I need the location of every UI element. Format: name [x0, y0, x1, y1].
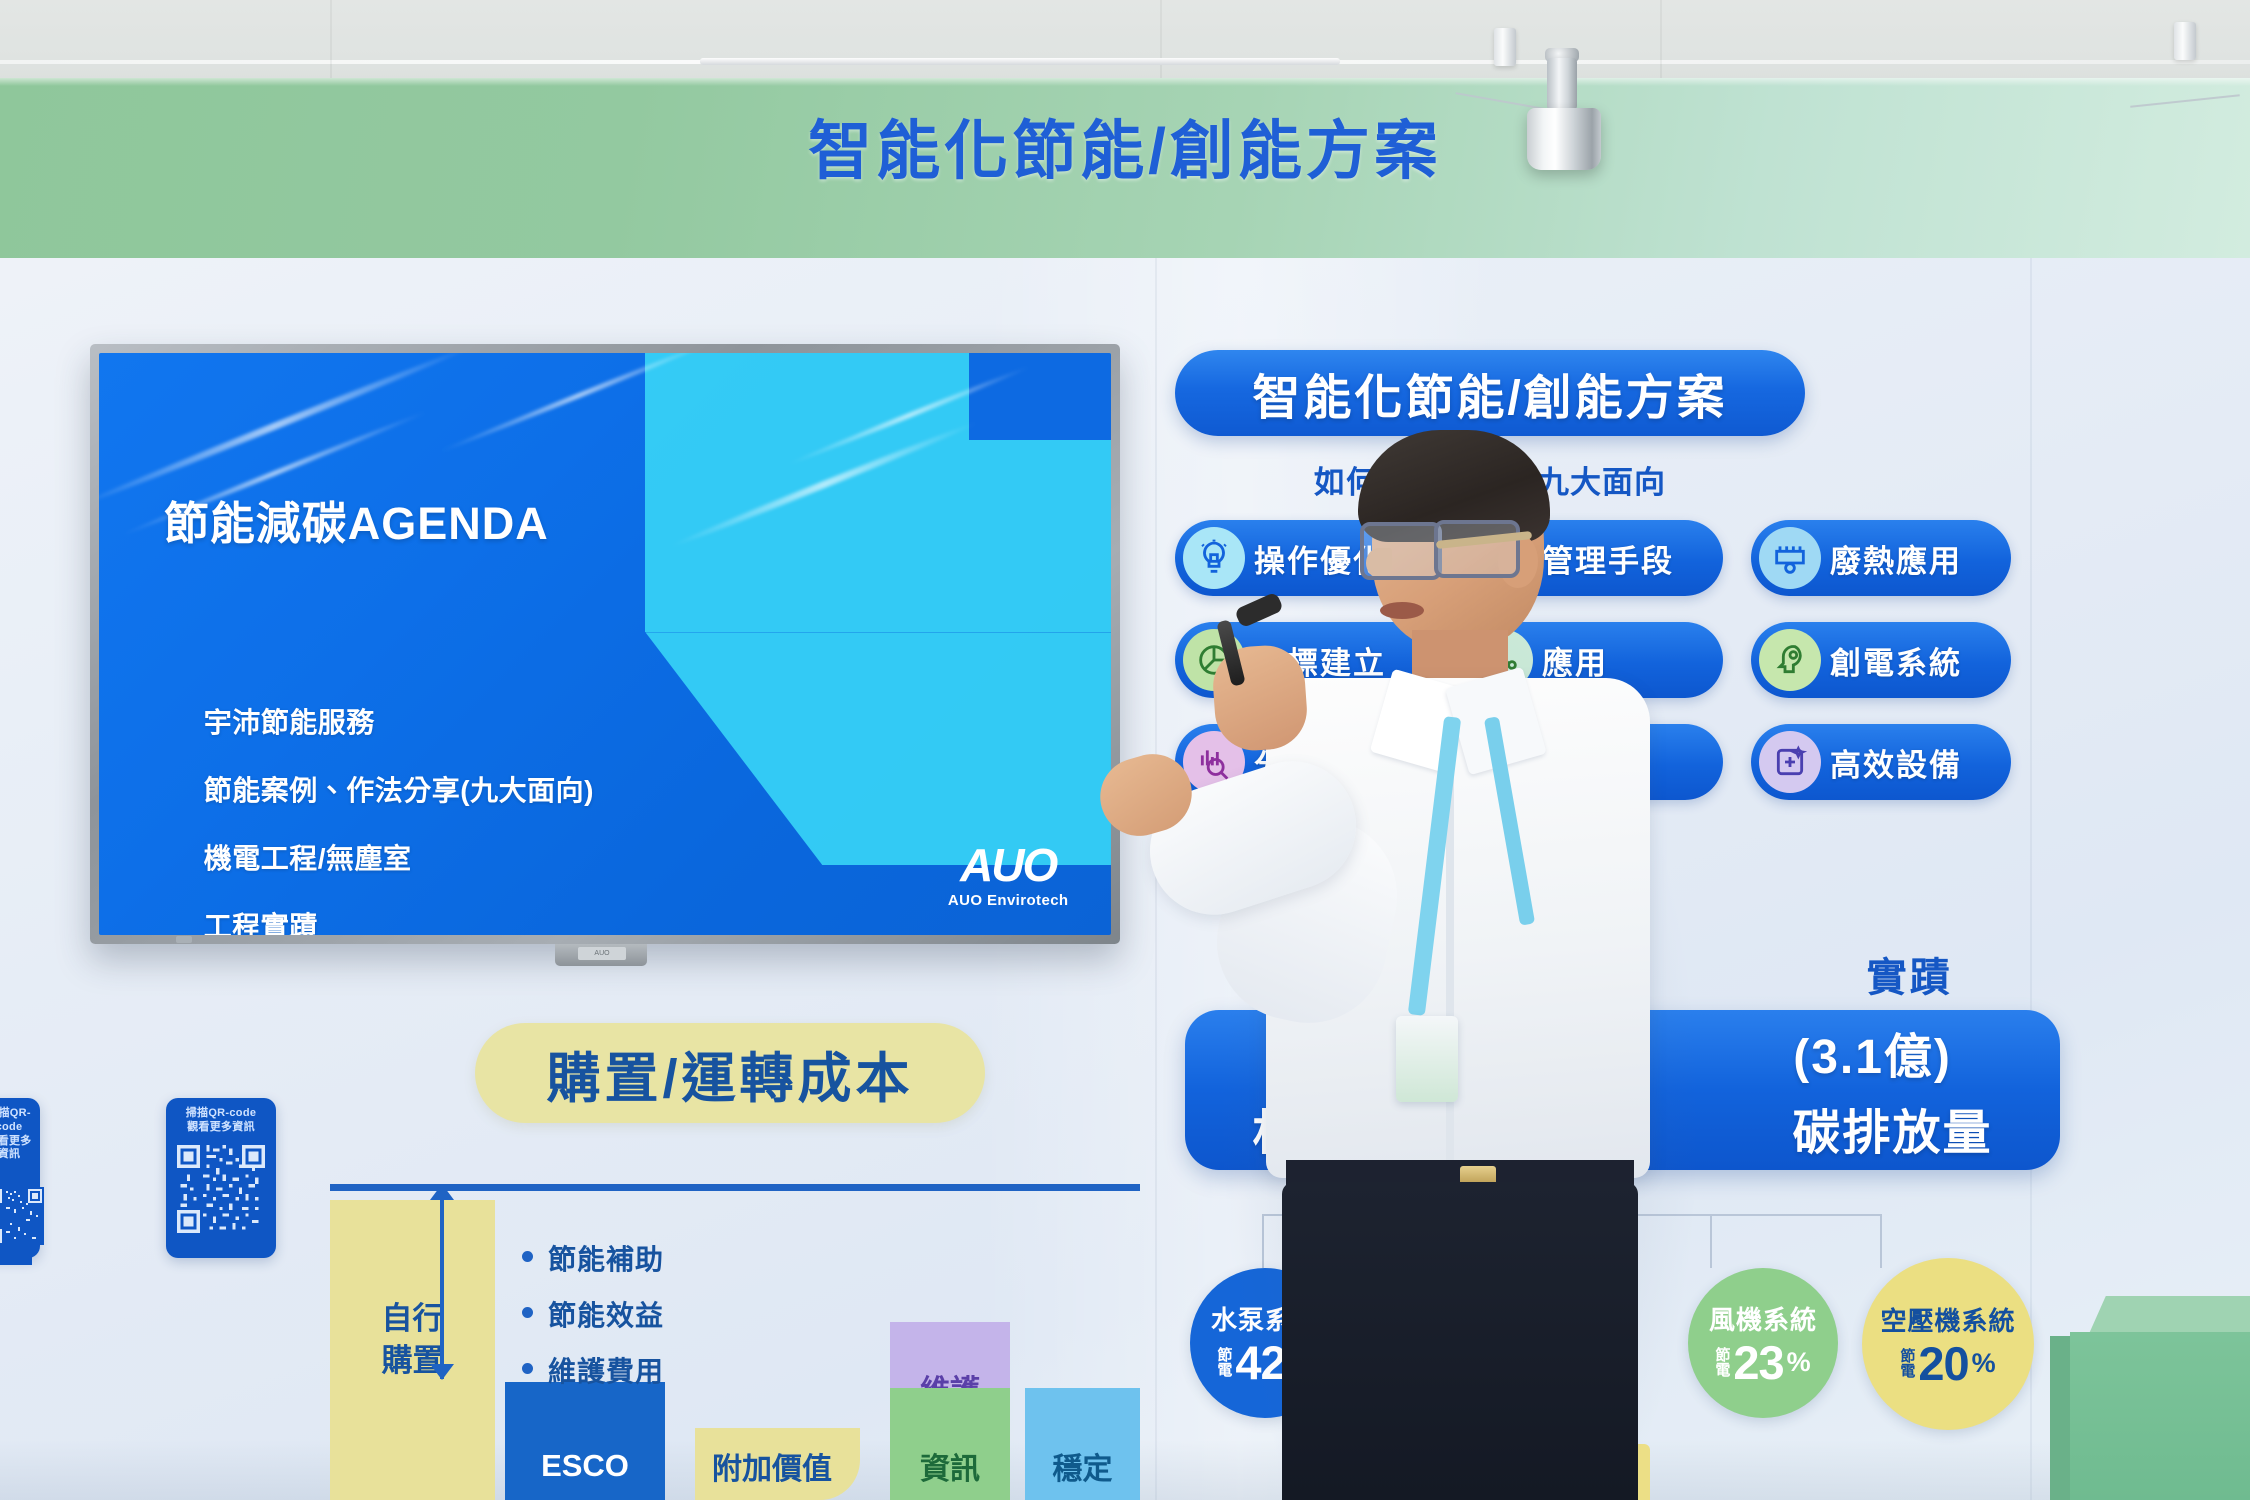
- track-clip: [1494, 28, 1516, 66]
- connector-drop: [1880, 1214, 1884, 1268]
- savings-circle-name: 空壓機系統: [1880, 1301, 2015, 1338]
- bar-label-esco: ESCO: [505, 1448, 665, 1484]
- qr-caption: 掃描QR-code 觀看更多資訊: [174, 1107, 268, 1135]
- savings-circle-value-group: 節電 20 %: [1900, 1340, 1995, 1387]
- aspect-pill-high-efficiency-equipment[interactable]: 高效設備: [1751, 724, 2011, 800]
- track-clip: [2174, 22, 2196, 60]
- aspect-pill-waste-heat[interactable]: 廢熱應用: [1751, 520, 2011, 596]
- aspect-pill-label: 廢熱應用: [1830, 536, 1962, 581]
- arrow-up-icon: [430, 1184, 454, 1200]
- banner-title: 智能化節能/創能方案: [0, 100, 2250, 192]
- slide-shape-cyan-wedge: [645, 632, 1111, 865]
- aspect-pill-label: 創電系統: [1830, 638, 1962, 683]
- slide-title: 節能減碳AGENDA: [164, 487, 549, 552]
- tv-brand-label: AUO: [578, 947, 626, 960]
- presenter-trousers: [1282, 1182, 1638, 1500]
- bar-label-information: 資訊: [890, 1444, 1010, 1488]
- auo-logo: AUO AUO Envirotech: [948, 842, 1069, 909]
- cost-bullet-list: 節能補助 節能效益 維護費用: [482, 1238, 664, 1406]
- brain-idea-icon: [1759, 629, 1821, 691]
- qr-code-card-right[interactable]: 掃描QR-code 觀看更多資訊: [166, 1098, 276, 1258]
- bar-label-added-value: 附加價值: [682, 1444, 862, 1488]
- slide-bullet: 工程實蹟: [204, 905, 594, 935]
- qr-code-image: [174, 1140, 268, 1238]
- cost-bullet: 維護費用: [522, 1350, 664, 1390]
- eyeglasses-left-lens-icon: [1360, 522, 1442, 580]
- slide-bullet: 宇沛節能服務: [204, 701, 594, 741]
- auo-tagline: AUO Envirotech: [948, 892, 1069, 909]
- device-spark-icon: [1759, 731, 1821, 793]
- slide-bullet-list: 宇沛節能服務 節能案例、作法分享(九大面向) 機電工程/無塵室 工程實蹟: [164, 701, 594, 935]
- presenter-mouth: [1380, 602, 1424, 619]
- achievement-line1-right: (3.1億): [1793, 1031, 1952, 1084]
- eyeglasses-right-lens-icon: [1434, 520, 1520, 578]
- cost-bullet: 節能補助: [522, 1238, 664, 1278]
- tv-power-led: [176, 936, 192, 943]
- achievement-line2-right: 碳排放量: [1793, 1107, 1993, 1160]
- slide-shape-blue-corner: [969, 353, 1111, 440]
- light-track: [700, 58, 1340, 65]
- percent-symbol: %: [1972, 1348, 1996, 1379]
- exhibition-booth-scene: 智能化節能/創能方案 節能減碳AGENDA 宇沛節能服務 節能案例、作法分享(九…: [0, 0, 2250, 1500]
- qr-code-card-left[interactable]: 掃描QR-code 觀看更多資訊: [0, 1098, 40, 1258]
- slide-bullet: 機電工程/無塵室: [204, 837, 594, 877]
- arrow-down-icon: [430, 1364, 454, 1380]
- id-badge: [1396, 1016, 1458, 1102]
- slide-bullet: 節能案例、作法分享(九大面向): [204, 769, 594, 809]
- savings-circle-tag: 節電: [1900, 1349, 1915, 1379]
- savings-circle-percent: 23: [1733, 1339, 1783, 1386]
- cost-section-title: 購置/運轉成本: [475, 1023, 985, 1123]
- qr-caption: 掃描QR-code 觀看更多資訊: [0, 1107, 32, 1162]
- spotlight-head: [1527, 108, 1601, 170]
- achievement-title-suffix: 實蹟: [1867, 956, 1953, 1000]
- bar-label-stability: 穩定: [1025, 1444, 1140, 1488]
- aspect-pill-power-generation[interactable]: 創電系統: [1751, 622, 2011, 698]
- right-board-header: 智能化節能/創能方案: [1175, 350, 1805, 436]
- presenter: [1230, 430, 1690, 1500]
- bar-label-self-purchase: 自行 購置: [330, 1298, 495, 1382]
- aspect-pill-label: 高效設備: [1830, 740, 1962, 785]
- savings-arrow-line: [440, 1194, 444, 1379]
- presentation-tv: 節能減碳AGENDA 宇沛節能服務 節能案例、作法分享(九大面向) 機電工程/無…: [90, 344, 1120, 944]
- savings-circle-percent: 20: [1918, 1340, 1968, 1387]
- savings-circle-value-group: 節電 23 %: [1715, 1339, 1810, 1386]
- tv-screen: 節能減碳AGENDA 宇沛節能服務 節能案例、作法分享(九大面向) 機電工程/無…: [99, 353, 1111, 935]
- factory-gear-icon: [1759, 527, 1821, 589]
- cost-bullet: 節能效益: [522, 1294, 664, 1334]
- savings-circle-name: 風機系統: [1709, 1300, 1817, 1337]
- percent-symbol: %: [1787, 1347, 1811, 1378]
- green-display-block: [2070, 1332, 2250, 1500]
- auo-wordmark: AUO: [948, 842, 1069, 888]
- cost-comparison-chart: 自行 購置 ESCO 附加價值 維護 資訊 穩定 節能補助 節能效益 維護費用: [310, 1178, 1150, 1500]
- savings-circle-compressor: 空壓機系統 節電 20 %: [1862, 1258, 2034, 1430]
- qr-code-image: [0, 1167, 32, 1265]
- spotlight-neck: [1547, 58, 1577, 110]
- green-display-block-top: [2088, 1296, 2250, 1336]
